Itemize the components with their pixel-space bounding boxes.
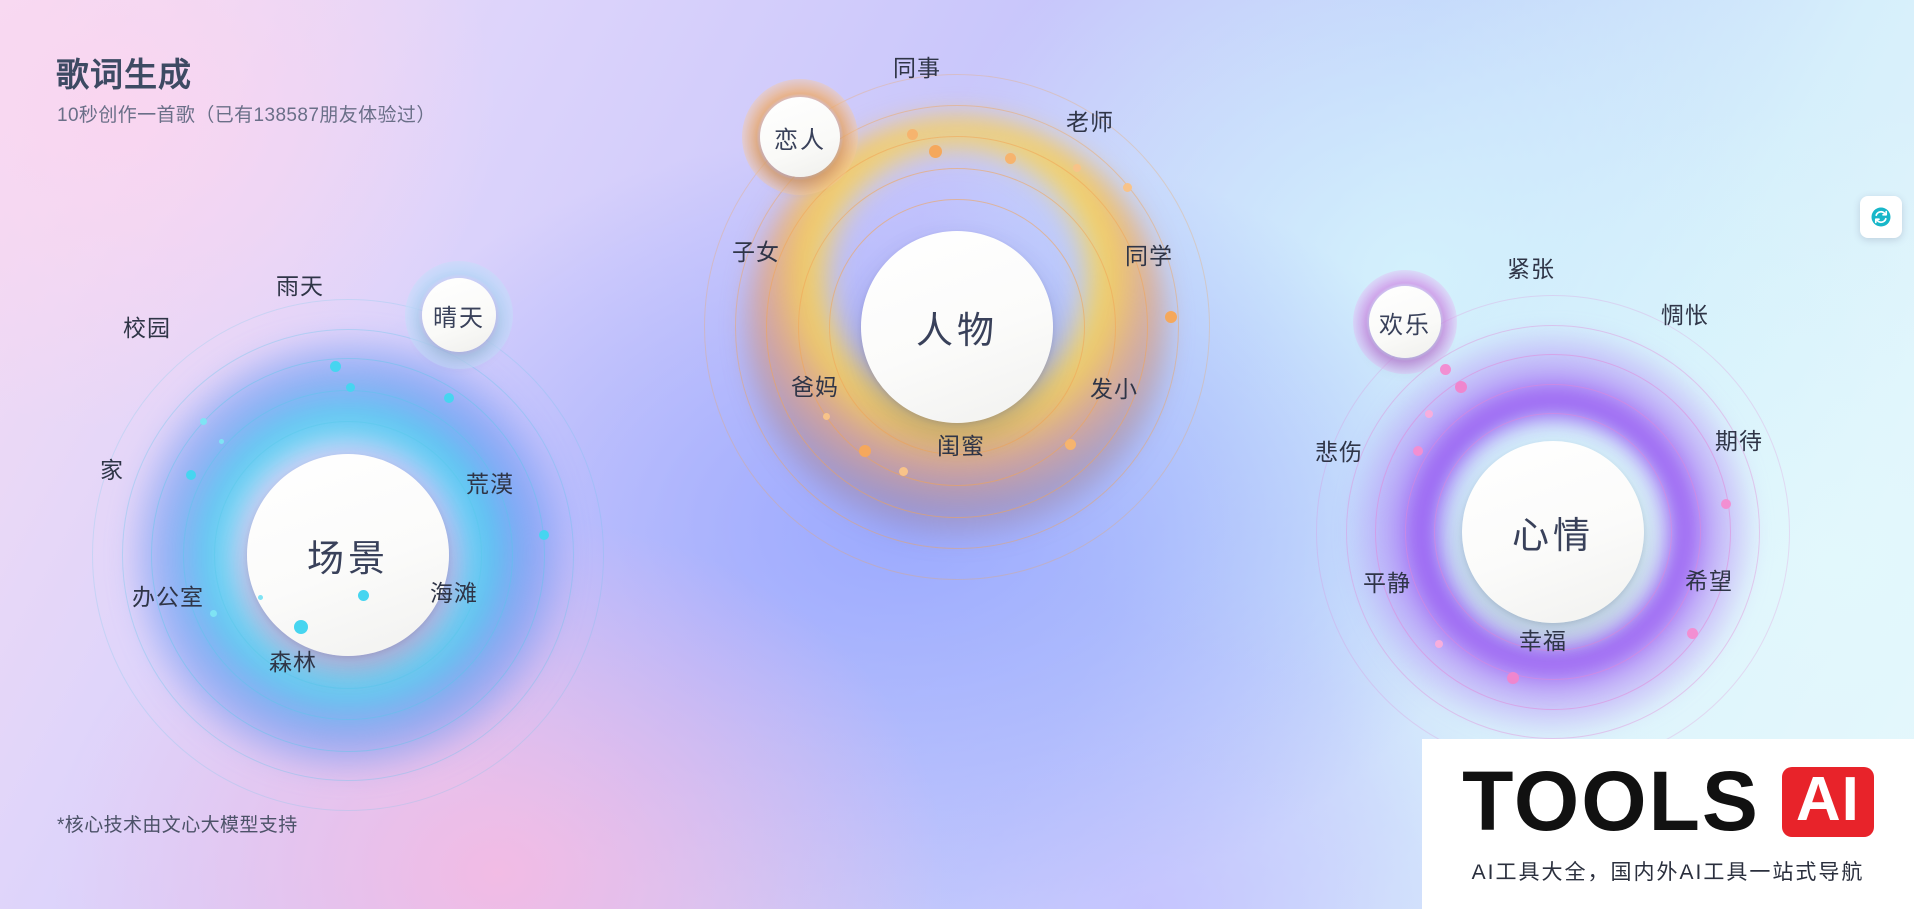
cluster-core-mood[interactable]: 心情 [1462,441,1644,623]
mood-node-happy[interactable]: 幸福 [1519,622,1567,656]
refresh-globe-icon [1869,205,1893,229]
scene-orbit-dot [330,361,341,372]
people-node-children[interactable]: 子女 [732,233,780,267]
cluster-core-people-label: 人物 [916,300,998,354]
people-node-buddy[interactable]: 发小 [1090,370,1138,404]
mood-node-hope[interactable]: 希望 [1685,562,1733,596]
cluster-core-scene-label: 场景 [307,528,389,582]
scene-orbit-dot [346,383,355,392]
scene-node-home[interactable]: 家 [100,451,124,485]
scene-orbit-dot [539,530,549,540]
scene-orbit-dot [358,590,369,601]
mood-orbit-dot [1687,628,1698,639]
mood-orbit-dot [1425,410,1433,418]
cluster-core-people[interactable]: 人物 [861,231,1053,423]
people-orbit-dot [1073,164,1081,172]
scene-node-campus[interactable]: 校园 [123,309,171,343]
people-node-teacher[interactable]: 老师 [1066,103,1114,137]
people-orbit-dot [929,145,942,158]
mood-orbit-dot [1413,446,1423,456]
mood-node-sad[interactable]: 悲伤 [1315,433,1363,467]
mood-node-wistful[interactable]: 惆怅 [1661,296,1709,330]
satellite-mood-joy-label: 欢乐 [1379,305,1431,340]
mood-orbit-dot [1435,640,1443,648]
watermark-name: TOOLS [1462,762,1760,842]
people-orbit-dot [899,467,908,476]
scene-orbit-dot [219,439,224,444]
watermark-tagline: AI工具大全，国内外AI工具一站式导航 [1472,856,1865,886]
scene-node-office[interactable]: 办公室 [132,578,204,612]
people-orbit-dot [1065,439,1076,450]
floating-action-button[interactable] [1860,196,1902,238]
satellite-mood-joy[interactable]: 欢乐 [1369,286,1441,358]
people-node-parents[interactable]: 爸妈 [791,368,839,402]
watermark: TOOLS AI AI工具大全，国内外AI工具一站式导航 [1422,739,1914,909]
people-node-bestie[interactable]: 闺蜜 [937,427,985,461]
people-orbit-dot [823,413,830,420]
scene-orbit-dot [294,620,308,634]
people-orbit-dot [1005,153,1016,164]
satellite-scene-sunny-label: 晴天 [433,298,485,333]
satellite-scene-sunny[interactable]: 晴天 [422,278,496,352]
cluster-core-scene[interactable]: 场景 [247,454,449,656]
scene-node-forest[interactable]: 森林 [269,643,317,677]
people-node-classmate[interactable]: 同学 [1125,237,1173,271]
people-orbit-dot [859,445,871,457]
mood-node-nervous[interactable]: 紧张 [1507,250,1555,284]
people-orbit-dot [907,129,918,140]
people-node-colleague[interactable]: 同事 [893,49,941,83]
scene-orbit-dot [258,595,263,600]
cluster-core-mood-label: 心情 [1512,505,1594,559]
mood-orbit-dot [1455,381,1467,393]
satellite-people-lover[interactable]: 恋人 [760,97,840,177]
watermark-logo-row: TOOLS AI [1462,762,1874,842]
watermark-ai-badge: AI [1782,767,1874,837]
page-footnote: *核心技术由文心大模型支持 [57,810,298,837]
lyric-generator-banner: 歌词生成 10秒创作一首歌（已有138587朋友体验过） *核心技术由文心大模型… [0,0,1914,909]
scene-node-rain[interactable]: 雨天 [276,267,324,301]
scene-node-desert[interactable]: 荒漠 [466,465,514,499]
scene-orbit-dot [200,418,207,425]
mood-node-expect[interactable]: 期待 [1715,422,1763,456]
page-subtitle: 10秒创作一首歌（已有138587朋友体验过） [57,100,436,127]
mood-node-calm[interactable]: 平静 [1363,564,1411,598]
people-orbit-dot [1123,183,1132,192]
scene-orbit-dot [210,610,217,617]
scene-orbit-dot [186,470,196,480]
satellite-people-lover-label: 恋人 [774,120,826,155]
page-title: 歌词生成 [56,48,192,96]
mood-orbit-dot [1507,672,1519,684]
scene-orbit-dot [444,393,454,403]
mood-orbit-dot [1721,499,1731,509]
mood-orbit-dot [1440,364,1451,375]
people-orbit-dot [1165,311,1177,323]
scene-node-beach[interactable]: 海滩 [430,574,478,608]
